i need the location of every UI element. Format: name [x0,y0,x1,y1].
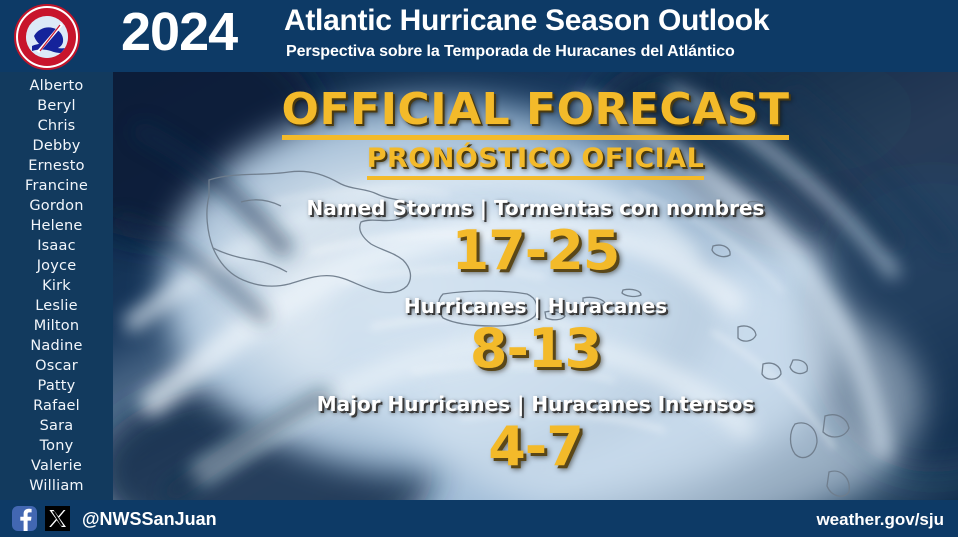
poster-footer: @NWSSanJuan weather.gov/sju [0,500,958,537]
official-forecast-heading-en: OFFICIAL FORECAST [113,86,958,140]
forecast-category-major-hurricanes: Major Hurricanes | Huracanes Intensos 4-… [113,392,958,476]
major-hurricanes-value: 4-7 [488,415,583,478]
forecast-overlay: OFFICIAL FORECAST PRONÓSTICO OFICIAL Nam… [113,72,958,500]
storm-name-item: Isaac [0,236,113,256]
hurricane-season-outlook-poster: OFFICIAL FORECAST PRONÓSTICO OFICIAL Nam… [0,0,958,537]
poster-header: 2024 Atlantic Hurricane Season Outlook P… [0,0,958,72]
title-block: 2024 Atlantic Hurricane Season Outlook P… [96,0,946,72]
x-twitter-icon[interactable] [45,506,70,531]
forecast-category-hurricanes: Hurricanes | Huracanes 8-13 [113,294,958,378]
logo-emblem-icon [26,16,68,58]
year-label: 2024 [121,1,237,63]
storm-name-item: Oscar [0,356,113,376]
facebook-glyph-icon [12,506,37,531]
storm-name-item: Milton [0,316,113,336]
named-storms-label: Named Storms | Tormentas con nombres [113,196,958,220]
storm-name-item: Helene [0,216,113,236]
storm-name-item: Chris [0,116,113,136]
major-hurricanes-label: Major Hurricanes | Huracanes Intensos [113,392,958,416]
page-title: Atlantic Hurricane Season Outlook [284,3,769,39]
storm-name-item: Valerie [0,456,113,476]
social-media-handle[interactable]: @NWSSanJuan [82,508,217,530]
storm-names-sidebar: AlbertoBerylChrisDebbyErnestoFrancineGor… [0,72,113,500]
storm-names-list: AlbertoBerylChrisDebbyErnestoFrancineGor… [0,76,113,496]
facebook-icon[interactable] [12,506,37,531]
storm-name-item: Gordon [0,196,113,216]
logo-inner-disc [26,16,68,58]
official-forecast-heading-es: PRONÓSTICO OFICIAL [113,142,958,180]
forecast-category-named-storms: Named Storms | Tormentas con nombres 17-… [113,196,958,280]
storm-name-item: Nadine [0,336,113,356]
hurricanes-label: Hurricanes | Huracanes [113,294,958,318]
storm-name-item: Francine [0,176,113,196]
official-forecast-text: OFFICIAL FORECAST [282,86,790,140]
national-weather-service-logo-icon [14,4,80,70]
storm-name-item: Kirk [0,276,113,296]
named-storms-value: 17-25 [452,219,620,282]
pronostico-oficial-text: PRONÓSTICO OFICIAL [367,143,705,180]
storm-name-item: Tony [0,436,113,456]
hurricanes-value: 8-13 [470,317,601,380]
storm-name-item: Ernesto [0,156,113,176]
storm-name-item: Beryl [0,96,113,116]
storm-name-item: Sara [0,416,113,436]
storm-name-item: Patty [0,376,113,396]
storm-name-item: William [0,476,113,496]
storm-name-item: Debby [0,136,113,156]
website-url[interactable]: weather.gov/sju [816,509,944,531]
page-subtitle-spanish: Perspectiva sobre la Temporada de Huraca… [286,42,735,62]
storm-name-item: Leslie [0,296,113,316]
storm-name-item: Alberto [0,76,113,96]
x-glyph-icon [45,506,70,531]
storm-name-item: Joyce [0,256,113,276]
storm-name-item: Rafael [0,396,113,416]
